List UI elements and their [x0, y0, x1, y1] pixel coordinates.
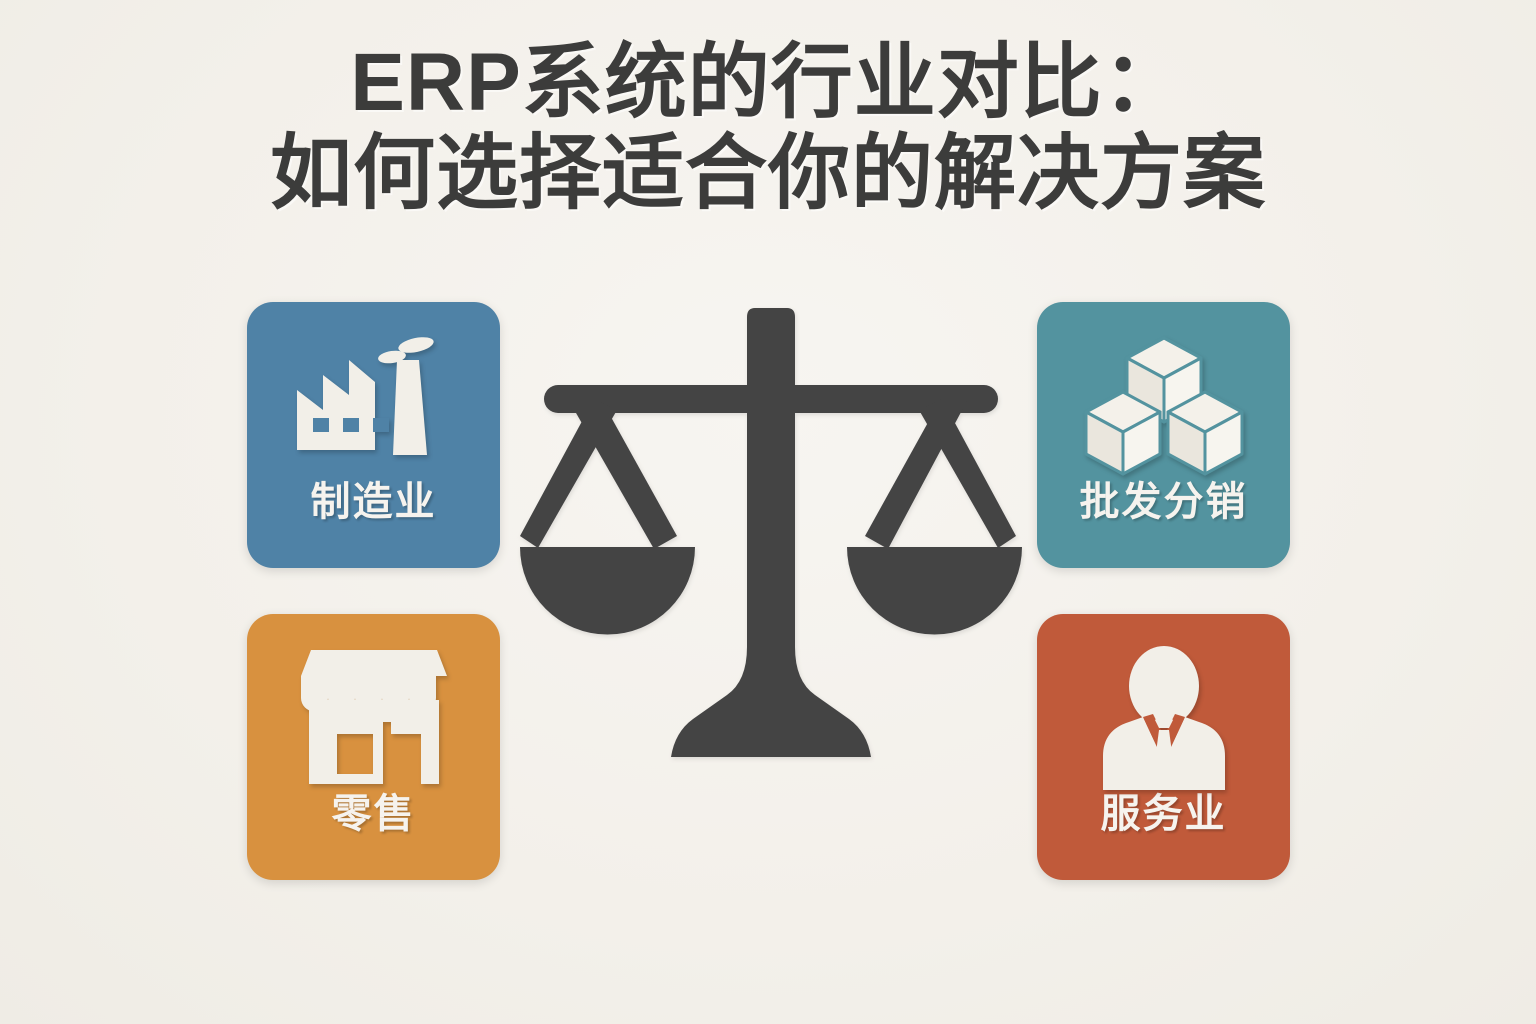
title-line-primary: ERP系统的行业对比： — [0, 40, 1536, 127]
storefront-icon — [289, 642, 459, 792]
page-title: ERP系统的行业对比： 如何选择适合你的解决方案 — [0, 40, 1536, 218]
businessperson-icon — [1079, 642, 1249, 792]
factory-icon — [289, 330, 459, 480]
industry-card-label: 零售 — [332, 794, 416, 834]
industry-card-label: 制造业 — [311, 482, 437, 522]
industry-card-service[interactable]: 服务业 — [1037, 614, 1290, 880]
industry-card-retail[interactable]: 零售 — [247, 614, 500, 880]
balance-scale-icon — [506, 300, 1036, 800]
title-line-secondary: 如何选择适合你的解决方案 — [0, 131, 1536, 218]
boxes-icon — [1079, 330, 1249, 480]
industry-card-label: 批发分销 — [1080, 482, 1248, 522]
industry-card-label: 服务业 — [1101, 794, 1227, 834]
industry-card-wholesale[interactable]: 批发分销 — [1037, 302, 1290, 568]
industry-card-manufacturing[interactable]: 制造业 — [247, 302, 500, 568]
